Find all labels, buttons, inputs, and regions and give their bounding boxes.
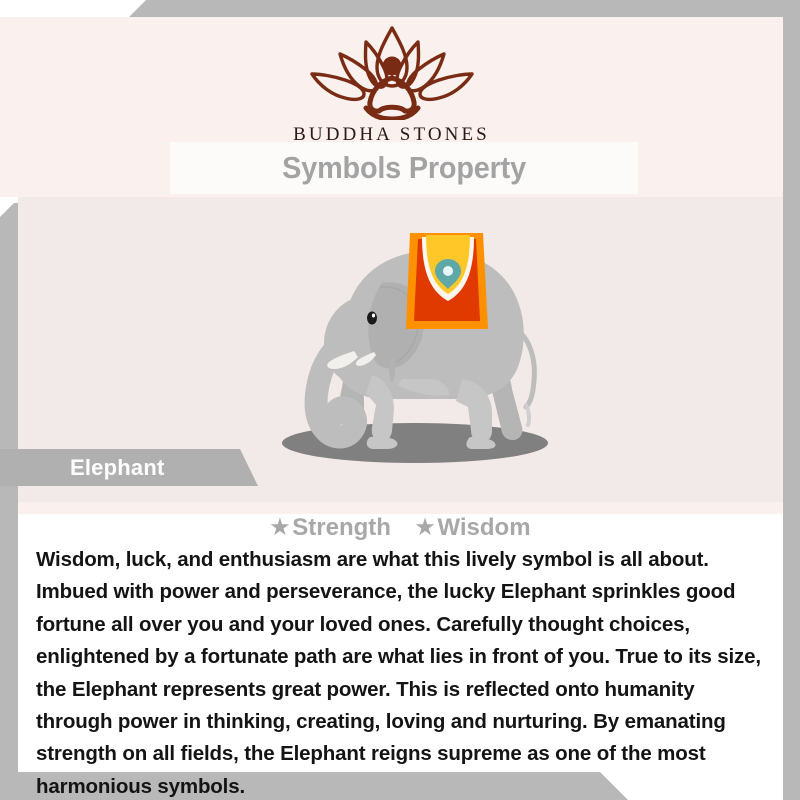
lotus-meditation-figure-icon: [304, 22, 480, 120]
brand-logo: BUDDHA STONES: [0, 22, 783, 146]
page-title-band: Symbols Property: [170, 142, 638, 194]
description-panel-top-strip: [18, 502, 783, 514]
property-wisdom-label: Wisdom: [437, 514, 530, 541]
symbol-name-label: Elephant: [70, 455, 165, 481]
page-title: Symbols Property: [282, 150, 526, 186]
frame-left-bar: [0, 203, 18, 800]
star-icon: ★: [270, 516, 289, 539]
symbol-name-tag: Elephant: [0, 449, 258, 486]
frame-top-bar: [0, 0, 800, 17]
infographic-page: BUDDHA STONES Symbols Property: [0, 0, 800, 800]
property-strength: ★Strength: [270, 514, 391, 541]
star-icon: ★: [416, 516, 435, 539]
description-text: Wisdom, luck, and enthusiasm are what th…: [36, 544, 766, 800]
elephant-eye: [367, 312, 377, 325]
property-strength-label: Strength: [292, 514, 391, 541]
elephant-illustration: [230, 209, 600, 479]
property-wisdom: ★Wisdom: [416, 514, 531, 541]
properties-row: ★Strength ★Wisdom: [18, 514, 783, 542]
frame-right-bar: [783, 0, 800, 800]
